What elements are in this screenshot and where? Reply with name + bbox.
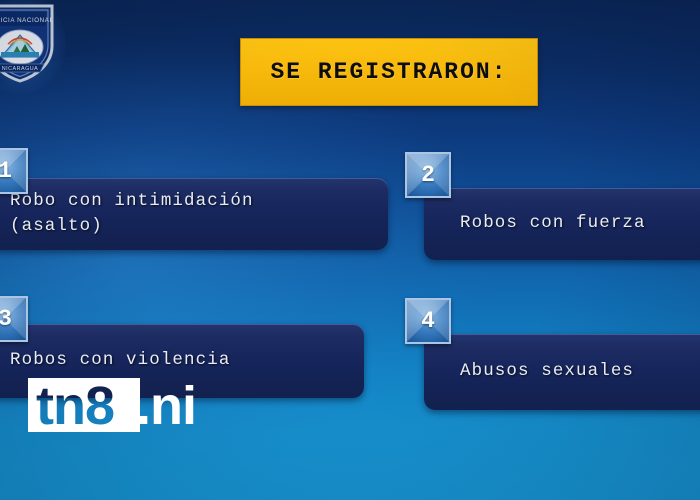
item-number-3: 3 — [0, 308, 12, 331]
title-banner: SE REGISTRARON: — [240, 38, 538, 106]
shield-icon: POLICIA NACIONAL NICARAGUA — [0, 2, 56, 84]
item-number-badge-1: 1 — [0, 148, 28, 194]
item-number-badge-4: 4 — [405, 298, 451, 344]
slide-canvas: POLICIA NACIONAL NICARAGUA SE REGISTRARO… — [0, 0, 700, 500]
item-panel-4: Abusos sexuales — [424, 334, 700, 410]
police-badge-emblem: POLICIA NACIONAL NICARAGUA — [0, 2, 56, 84]
item-label-3: Robos con violencia — [0, 348, 230, 373]
svg-text:NICARAGUA: NICARAGUA — [2, 66, 39, 72]
svg-text:POLICIA NACIONAL: POLICIA NACIONAL — [0, 17, 54, 24]
item-label-2: Robos con fuerza — [424, 211, 646, 236]
tn8-ni-logo-icon: tn8 .ni — [28, 378, 228, 432]
watermark-suffix: .ni — [136, 378, 196, 432]
item-number-2: 2 — [421, 164, 435, 187]
item-number-1: 1 — [0, 160, 12, 183]
item-panel-2: Robos con fuerza — [424, 188, 700, 260]
item-panel-1: Robo con intimidación (asalto) — [0, 178, 388, 250]
page-title: SE REGISTRARON: — [270, 59, 507, 85]
item-label-4: Abusos sexuales — [424, 359, 634, 384]
item-label-1: Robo con intimidación (asalto) — [0, 189, 254, 240]
tn8-watermark: tn8 .ni — [28, 378, 228, 432]
item-number-badge-2: 2 — [405, 152, 451, 198]
item-number-badge-3: 3 — [0, 296, 28, 342]
item-number-4: 4 — [421, 310, 435, 333]
